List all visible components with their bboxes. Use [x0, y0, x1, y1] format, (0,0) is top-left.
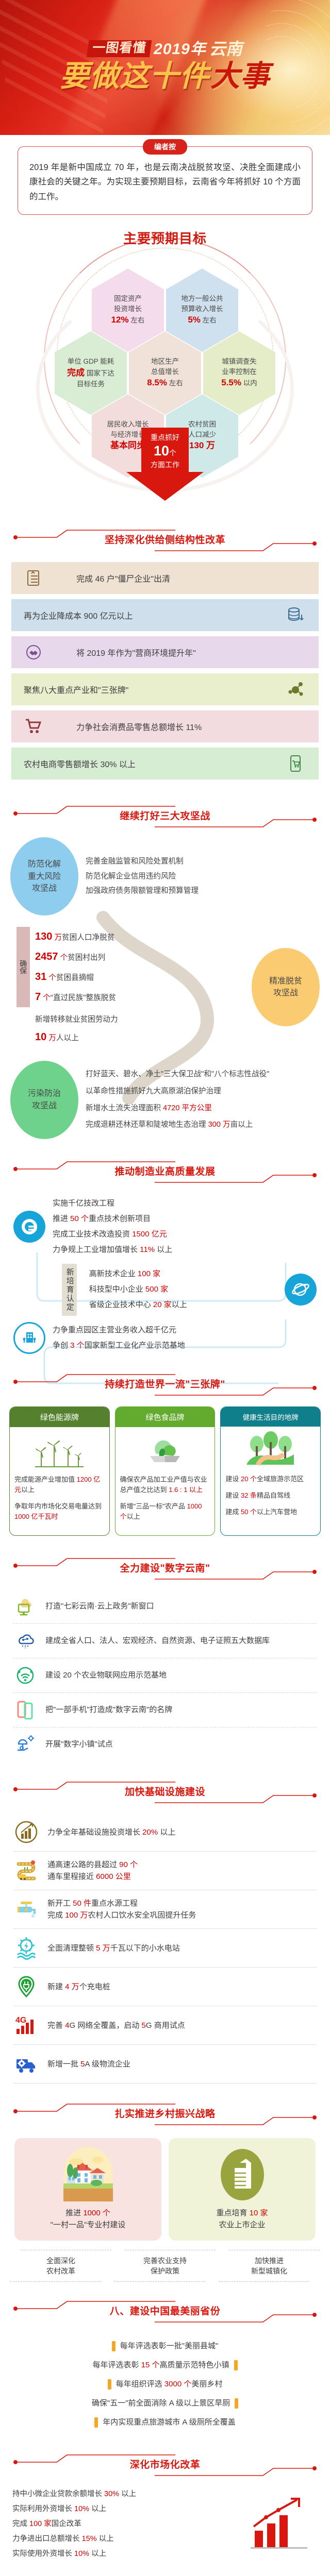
- editor-note: 编者按 2019 年是新中国成立 70 年，也是云南决战脱贫攻坚、决胜全面建成小…: [18, 146, 312, 215]
- rural-card-village: 推进 1000 个 "一村一品"专业村建设: [14, 2138, 161, 2241]
- rural-tag: 完善农业支持 保护政策: [114, 2250, 216, 2282]
- card-line: 确保农产品加工业产值与农业总产值之比达到 1.6 : 1 以上: [120, 1475, 210, 1495]
- building-icon: [13, 1322, 45, 1354]
- goal-hex-label: 固定资产 投资增长: [111, 294, 145, 314]
- infographic-page: 一图看懂 2019年 云南 要做这十件 大事 编者按 2019 年是新中国成立 …: [0, 0, 330, 2576]
- digital-yunnan-list: 打造"七彩云南·云上政务"新窗口 建成全省人口、法人、宏观经济、自然资源、电子证…: [0, 1587, 330, 1765]
- bar-marker: [235, 2398, 238, 2409]
- battle-item: 31 个贫困县摘帽: [35, 967, 116, 987]
- phones-icon: [13, 1698, 37, 1722]
- mfg-group-cultivate: 新培育认定 高新技术企业 100 家 科技型中小企业 500 家 省级企业技术中…: [0, 1261, 330, 1319]
- section-heading-cards: 持续打造世界一流"三张牌": [0, 1370, 330, 1398]
- market-reform-section: 持中小微企业贷款余额增长 30% 以上 实际利用外资增长 10% 以上 完成 1…: [0, 2484, 330, 2567]
- arrow-number: 10: [154, 443, 169, 459]
- card-line: 完成能源产业增加值 1200 亿元以上: [14, 1475, 105, 1495]
- planet-icon: [285, 1274, 317, 1306]
- reform-item: 实际使用外资增长 10% 以上: [12, 2547, 240, 2562]
- road-icon: [13, 1858, 39, 1884]
- ribbon-text: 将 2019 年作为"营商环境提升年": [76, 646, 196, 658]
- card-title: 绿色能源牌: [10, 1407, 109, 1427]
- section-title-mfg: 推动制造业高质量发展: [114, 1164, 215, 1178]
- battle-poverty: 精准脱贫 攻坚战 确保 130 万贫困人口净脱贫 2457 个贫困村出列 31 …: [0, 916, 330, 1047]
- digital-text: 建设 20 个农业物联网应用示范基地: [45, 1670, 167, 1682]
- bar-marker: [234, 2360, 238, 2370]
- battle-item: 加强政府债务限额管理和预算管理: [86, 884, 199, 898]
- network-icon: [279, 681, 311, 698]
- beauty-row: 年内实现重点旅游城市 A 级厕所全覆盖: [12, 2416, 318, 2429]
- three-brands-cards: 绿色能源牌 完成能源产业增加值 1200 亿元以上 争取年内市场化交易电量达到 …: [0, 1403, 330, 1541]
- handshake-icon: [18, 643, 49, 661]
- battle-items: 打好蓝天、碧水、净土"三大保卫战"和"八个标志性战役" 以革命性措施抓好九大高原…: [78, 1068, 276, 1131]
- arrow-top-label: 重点抓好: [126, 433, 204, 442]
- signal-4g-icon: 4G: [13, 2012, 39, 2038]
- mfg-item: 争创 3 个国家新型工业化产业示范基地: [53, 1338, 185, 1353]
- battle-bubble-label: 精准脱贫 攻坚战: [252, 948, 320, 1026]
- battle-item: 130 万贫困人口净脱贫: [35, 927, 116, 947]
- mfg-item: 科技型中小企业 500 家: [89, 1282, 277, 1297]
- agri-company-icon: [174, 2146, 310, 2203]
- mfg-item: 完成工业技术改造投资 1500 亿元: [53, 1227, 172, 1242]
- reform-item: 完成 100 家国企改革: [12, 2517, 240, 2532]
- digital-row: 把"一部手机"打造成"数字云南"的名牌: [13, 1693, 317, 1727]
- vegetable-icon: [115, 1427, 215, 1471]
- goal-hex-label: 地区生产 总值增长: [147, 357, 183, 377]
- cloud-data-icon: [13, 1629, 37, 1653]
- ribbon-row: 再为企业降成本 900 亿元以上: [11, 599, 319, 631]
- card-lines: 完成能源产业增加值 1200 亿元以上 争取年内市场化交易电量达到 1000 亿…: [10, 1471, 109, 1536]
- digital-text: 建成全省人口、法人、宏观经济、自然资源、电子证照五大数据库: [45, 1635, 270, 1647]
- card-title: 绿色食品牌: [115, 1407, 215, 1427]
- digital-row: 建设 20 个农业物联网应用示范基地: [13, 1658, 317, 1693]
- infra-text: 完善 4G 网络全覆盖，启动 5G 商用试点: [47, 2020, 185, 2031]
- card-lines: 确保农产品加工业产值与农业总产值之比达到 1.6 : 1 以上 新增"三品一标"…: [115, 1471, 215, 1536]
- ribbon-text: 完成 46 户"僵尸企业"出清: [76, 572, 170, 584]
- infra-row: 全面清理整顿 5 万千瓦以下的小水电站: [13, 1929, 317, 1968]
- goal-hex-value: 5% 左右: [188, 316, 216, 324]
- section-title-reform: 深化市场化改革: [130, 2457, 201, 2471]
- rural-card-bottom: 农业上市企业: [174, 2219, 310, 2231]
- coins-icon: [279, 606, 311, 624]
- reform-item: 力争进出口总额增长 15% 以上: [12, 2532, 240, 2547]
- goals-title: 主要预期目标: [123, 228, 207, 247]
- hero-headline-main: 要做这十件: [60, 62, 209, 91]
- mfg-items: 力争重点园区主营业务收入超千亿元 争创 3 个国家新型工业化产业示范基地: [53, 1323, 185, 1353]
- reform-items: 持中小微企业贷款余额增长 30% 以上 实际利用外资增长 10% 以上 完成 1…: [12, 2487, 240, 2562]
- ribbon-text: 再为企业降成本 900 亿元以上: [24, 609, 133, 621]
- rural-cards: 推进 1000 个 "一村一品"专业村建设 重点培育 10 家 农业上市企业: [0, 2133, 330, 2243]
- rural-tag: 全面深化 农村改革: [10, 2250, 111, 2282]
- infra-text: 全面清理整顿 5 万千瓦以下的小水电站: [47, 1942, 180, 1954]
- infra-row: 新建 4 万个充电桩: [13, 1968, 317, 2006]
- battle-item: 完善金融监管和风险处置机制: [86, 854, 199, 869]
- battle-extra: 新增转移就业贫困劳动力 10 万人以上: [16, 1007, 245, 1047]
- section-heading-rural: 扎实推进乡村振兴战略: [0, 2100, 330, 2128]
- section-heading-infra: 加快基础设施建设: [0, 1778, 330, 1806]
- reform-item: 持中小微企业贷款余额增长 30% 以上: [12, 2487, 240, 2502]
- goal-hex-value: 完成 国家下达 目标任务: [67, 369, 114, 388]
- goals-arrow-text: 重点抓好 10个 方面工作: [126, 433, 204, 469]
- beauty-text: 每年评选表彰 15 个高质量示范特色小镇: [92, 2359, 229, 2371]
- beauty-row: 每年组织评选 3000 个美丽乡村: [12, 2378, 318, 2391]
- goal-hex-label: 单位 GDP 能耗: [67, 357, 114, 367]
- forest-path-icon: [221, 1427, 320, 1471]
- hero-badge: 一图看懂: [87, 40, 152, 57]
- supply-ribbon-list: 完成 46 户"僵尸企业"出清 再为企业降成本 900 亿元以上 将 2019 …: [0, 559, 330, 789]
- ribbon-row: 将 2019 年作为"营商环境提升年": [11, 636, 319, 668]
- ribbon-row: 完成 46 户"僵尸企业"出清: [11, 562, 319, 594]
- hero-title-line-1: 一图看懂 2019年 云南: [88, 40, 242, 57]
- rural-card-bottom: "一村一品"专业村建设: [20, 2219, 156, 2231]
- goal-hex-label: 地方一般公共 预算收入增长: [181, 294, 223, 314]
- arrow-bottom-label: 方面工作: [126, 460, 204, 469]
- infrastructure-list: 力争全年基础设施投资增长 20% 以上 通高速公路的县超过 90 个 通车里程接…: [0, 1811, 330, 2087]
- battle-item: 完成退耕还林还草和陡坡地生态治理 300 万亩以上: [86, 1118, 269, 1131]
- mfg-item: 高新技术企业 100 家: [89, 1266, 277, 1282]
- arrow-head-shape: [126, 472, 204, 501]
- ribbon-text: 力争社会消费品零售总额增长 11%: [76, 720, 202, 733]
- three-battles-section: 防范化解 重大风险 攻坚战 完善金融监管和风险处置机制 防范化解企业信用违约风险…: [0, 835, 330, 1144]
- hero-banner: 一图看懂 2019年 云南 要做这十件 大事: [0, 0, 330, 135]
- brand-card-food: 绿色食品牌 确保农产品加工业产值与农业总产值之比达到 1.6 : 1 以上 新增…: [115, 1406, 216, 1536]
- beauty-text: 年内实现重点旅游城市 A 级厕所全覆盖: [103, 2416, 236, 2429]
- village-icon: [20, 2146, 156, 2203]
- brand-card-energy: 绿色能源牌 完成能源产业增加值 1200 亿元以上 争取年内市场化交易电量达到 …: [9, 1406, 110, 1536]
- beauty-row: 每年评选表彰一批"美丽县城": [12, 2340, 318, 2352]
- beauty-text: 确保"五一"前全面消除 A 级以上景区旱厕: [92, 2397, 230, 2410]
- cart-icon: [18, 718, 49, 735]
- card-line: 建设 32 条精品自驾线: [225, 1490, 316, 1501]
- hydropower-icon: [13, 1935, 39, 1961]
- section-title-supply: 坚持深化供给侧结构性改革: [105, 532, 225, 546]
- rural-card-top: 推进 1000 个: [20, 2207, 156, 2219]
- beauty-row: 每年评选表彰 15 个高质量示范特色小镇: [12, 2359, 318, 2371]
- mfg-item: 实施千亿技改工程: [53, 1196, 172, 1211]
- growth-chart-icon: [13, 1819, 39, 1845]
- battle-item: 2457 个贫困村出列: [35, 947, 116, 967]
- logistics-truck-icon: [13, 2051, 39, 2077]
- section-heading-reform: 深化市场化改革: [0, 2451, 330, 2479]
- digital-town-icon: [13, 1733, 37, 1756]
- mfg-items: 实施千亿技改工程 推进 50 个重点技术创新项目 完成工业技术改造投资 1500…: [53, 1196, 172, 1258]
- goal-hex-value: 8.5% 左右: [147, 379, 183, 387]
- battle-bubble-label: 防范化解 重大风险 攻坚战: [10, 837, 78, 916]
- rural-card-caption: 重点培育 10 家 农业上市企业: [174, 2207, 310, 2231]
- digital-text: 打造"七彩云南·云上政务"新窗口: [45, 1601, 154, 1613]
- section-title-battles: 继续打好三大攻坚战: [120, 808, 210, 822]
- infra-text: 新建 4 万个充电桩: [47, 1981, 110, 1993]
- card-title: 健康生活目的地牌: [221, 1407, 320, 1427]
- goals-arrow: 重点抓好 10个 方面工作: [126, 428, 204, 501]
- mfg-item: 省级企业技术中心 20 家以上: [89, 1297, 277, 1313]
- section-heading-supply: 坚持深化供给侧结构性改革: [0, 526, 330, 554]
- hero-headline-accent: 大事: [210, 62, 270, 91]
- manufacturing-section: 实施千亿技改工程 推进 50 个重点技术创新项目 完成工业技术改造投资 1500…: [0, 1191, 330, 1357]
- editor-note-body: 2019 年是新中国成立 70 年，也是云南决战脱贫攻坚、决胜全面建成小康社会的…: [18, 146, 312, 215]
- infra-text: 力争全年基础设施投资增长 20% 以上: [47, 1826, 175, 1838]
- main-goals-section: 主要预期目标 固定资产 投资增长12% 左右 地方一般公共 预算收入增长5% 左…: [0, 224, 330, 513]
- cultivate-vertical-tag: 新培育认定: [62, 1264, 77, 1316]
- battle-item: 以革命性措施抓好九大高原湖泊保护治理: [86, 1085, 269, 1098]
- goal-hex-value: 12% 左右: [111, 316, 145, 324]
- gear-icon: [13, 1211, 45, 1243]
- mfg-item: 力争规上工业增加值增长 11% 以上: [53, 1242, 172, 1258]
- digital-row: 开展"数字小镇"试点: [13, 1727, 317, 1761]
- beauty-text: 每年组织评选 3000 个美丽乡村: [116, 2378, 223, 2391]
- digital-text: 把"一部手机"打造成"数字云南"的名牌: [45, 1704, 172, 1716]
- ribbon-row: 力争社会消费品零售总额增长 11%: [11, 710, 319, 742]
- document-icon: [18, 569, 49, 587]
- infra-row: 新增一批 5A 级物流企业: [13, 2045, 317, 2083]
- mfg-items: 高新技术企业 100 家 科技型中小企业 500 家 省级企业技术中心 20 家…: [89, 1266, 277, 1313]
- ensure-tag: 确保: [16, 927, 30, 1007]
- rural-card-top: 重点培育 10 家: [174, 2207, 310, 2219]
- bar-marker: [94, 2417, 98, 2428]
- infra-row: 通高速公路的县超过 90 个 通车里程接近 6000 公里: [13, 1852, 317, 1890]
- mobile-cart-icon: [279, 755, 311, 772]
- battle-extra-label: 新增转移就业贫困劳动力: [35, 1012, 245, 1027]
- wind-turbine-icon: [10, 1427, 109, 1471]
- battle-item: 7 个"直过民族"整族脱贫: [35, 987, 116, 1007]
- beautiful-province-list: 每年评选表彰一批"美丽县城" 每年评选表彰 15 个高质量示范特色小镇 每年组织…: [0, 2330, 330, 2437]
- reform-growth-chart-icon: [245, 2495, 318, 2554]
- section-title-infra: 加快基础设施建设: [125, 1784, 205, 1798]
- goal-hex-value: 5.5% 以内: [221, 379, 257, 387]
- faucet-icon: [13, 1896, 39, 1922]
- section-title-rural: 扎实推进乡村振兴战略: [114, 2106, 215, 2120]
- section-heading-digital: 全力建设"数字云南": [0, 1554, 330, 1582]
- battle-item: 新增水土流失治理面积 4720 平方公里: [86, 1102, 269, 1115]
- ribbon-text: 农村电商零售额增长 30% 以上: [24, 757, 136, 770]
- digital-text: 开展"数字小镇"试点: [45, 1739, 113, 1751]
- section-title-beauty: 八、建设中国最美丽省份: [110, 2303, 221, 2317]
- battle-items: 130 万贫困人口净脱贫 2457 个贫困村出列 31 个贫困县摘帽 7 个"直…: [35, 927, 116, 1007]
- charging-pile-icon: [13, 1974, 39, 1999]
- battle-risk: 防范化解 重大风险 攻坚战 完善金融监管和风险处置机制 防范化解企业信用违约风险…: [0, 837, 330, 916]
- beauty-text: 每年评选表彰一批"美丽县城": [120, 2340, 219, 2352]
- rural-tags: 全面深化 农村改革 完善农业支持 保护政策 加快推进 新型城镇化: [0, 2243, 330, 2284]
- battle-extra-value: 10 万人以上: [35, 1027, 245, 1047]
- section-heading-mfg: 推动制造业高质量发展: [0, 1158, 330, 1185]
- battle-item: 防范化解企业信用违约风险: [86, 869, 199, 884]
- cloud-monitor-icon: [13, 1595, 37, 1618]
- mfg-group-tech: 实施千亿技改工程 推进 50 个重点技术创新项目 完成工业技术改造投资 1500…: [0, 1193, 330, 1261]
- arrow-unit: 个: [169, 449, 176, 457]
- card-line: 争取年内市场化交易电量达到 1000 亿千瓦时: [14, 1501, 105, 1522]
- hero-place: 云南: [209, 41, 242, 57]
- infra-text: 新增一批 5A 级物流企业: [47, 2058, 130, 2070]
- card-line: 建成 50 个以上汽车营地: [225, 1507, 316, 1517]
- mfg-group-park: 力争重点园区主营业务收入超千亿元 争创 3 个国家新型工业化产业示范基地: [0, 1319, 330, 1357]
- rural-tag: 加快推进 新型城镇化: [219, 2250, 320, 2282]
- rural-card-caption: 推进 1000 个 "一村一品"专业村建设: [20, 2207, 156, 2231]
- ribbon-row: 农村电商零售额增长 30% 以上: [11, 748, 319, 779]
- section-heading-battles: 继续打好三大攻坚战: [0, 802, 330, 830]
- ribbon-text: 聚焦八大重点产业和"三张牌": [24, 683, 128, 696]
- hero-title-line-2: 要做这十件 大事: [60, 62, 270, 91]
- iot-icon: [13, 1664, 37, 1687]
- battle-items: 完善金融监管和风险处置机制 防范化解企业信用违约风险 加强政府债务限额管理和预算…: [78, 854, 206, 898]
- battle-bubble-label: 污染防治 攻坚战: [10, 1061, 78, 1139]
- rural-card-company: 重点培育 10 家 农业上市企业: [169, 2138, 316, 2241]
- digital-row: 打造"七彩云南·云上政务"新窗口: [13, 1589, 317, 1624]
- bar-marker: [112, 2341, 115, 2351]
- ribbon-row: 聚焦八大重点产业和"三张牌": [11, 673, 319, 705]
- infra-text: 通高速公路的县超过 90 个 通车里程接近 6000 公里: [47, 1859, 138, 1883]
- bar-marker: [108, 2379, 111, 2389]
- card-line: 新增"三品一标"农产品 1000 个以上: [120, 1501, 210, 1522]
- infra-row: 4G 完善 4G 网络全覆盖，启动 5G 商用试点: [13, 2006, 317, 2045]
- section-title-digital: 全力建设"数字云南": [120, 1561, 210, 1574]
- reform-item: 实际利用外资增长 10% 以上: [12, 2502, 240, 2517]
- svg-text:4G: 4G: [15, 2016, 26, 2025]
- hero-year: 2019年: [154, 42, 206, 57]
- digital-row: 建成全省人口、法人、宏观经济、自然资源、电子证照五大数据库: [13, 1624, 317, 1658]
- infra-row: 新开工 50 件重点水源工程 完成 100 万农村人口饮水安全巩固提升任务: [13, 1890, 317, 1929]
- beauty-row: 确保"五一"前全面消除 A 级以上景区旱厕: [12, 2397, 318, 2410]
- card-line: 建设 20 个全域旅游示范区: [225, 1474, 316, 1484]
- battle-item: 打好蓝天、碧水、净土"三大保卫战"和"八个标志性战役": [86, 1068, 269, 1081]
- mfg-item: 推进 50 个重点技术创新项目: [53, 1211, 172, 1227]
- editor-note-tag: 编者按: [143, 139, 187, 155]
- section-heading-beauty: 八、建设中国最美丽省份: [0, 2297, 330, 2325]
- goal-hex-label: 城镇调查失 业率控制在: [221, 357, 257, 377]
- card-lines: 建设 20 个全域旅游示范区 建设 32 条精品自驾线 建成 50 个以上汽车营…: [221, 1471, 320, 1531]
- mfg-item: 力争重点园区主营业务收入超千亿元: [53, 1323, 185, 1338]
- brand-card-health: 健康生活目的地牌 建设 20 个全域旅游示范区 建设 32 条精品自驾线 建成 …: [220, 1406, 321, 1536]
- section-title-cards: 持续打造世界一流"三张牌": [105, 1377, 225, 1391]
- infra-text: 新开工 50 件重点水源工程 完成 100 万农村人口饮水安全巩固提升任务: [47, 1897, 196, 1922]
- infra-row: 力争全年基础设施投资增长 20% 以上: [13, 1813, 317, 1852]
- battle-pollution: 污染防治 攻坚战 打好蓝天、碧水、净土"三大保卫战"和"八个标志性战役" 以革命…: [0, 1047, 330, 1144]
